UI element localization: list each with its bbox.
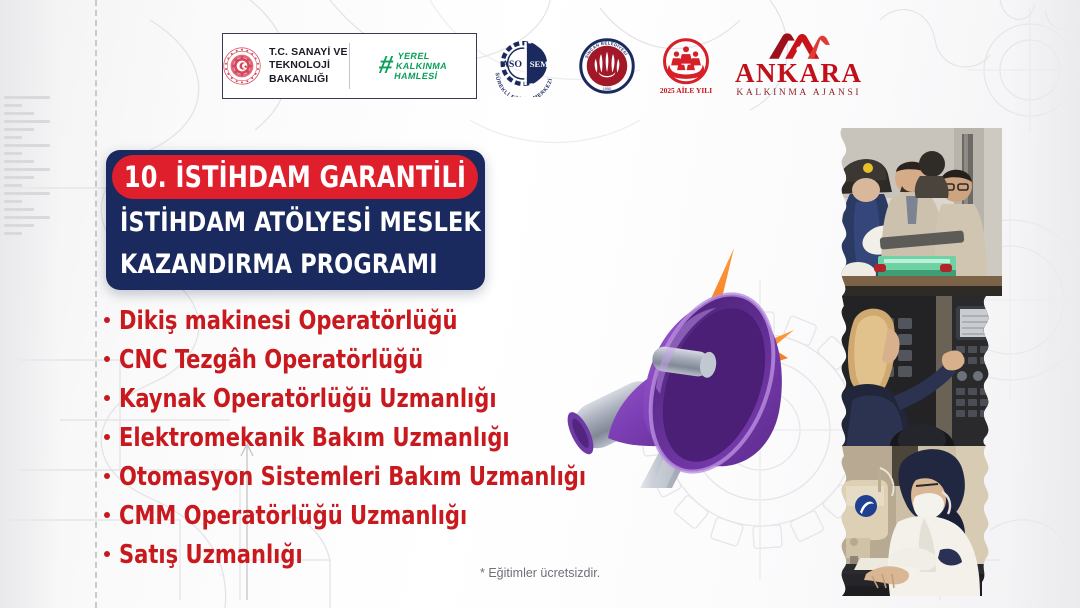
hashtag-icon: # [377, 53, 395, 78]
ruler-marks [4, 96, 50, 266]
partner-logo-aile-yili: 2025 AİLE YILI [637, 31, 721, 101]
campaign-line-2: KALKINMA [395, 61, 448, 71]
photo-sewing-operator-image [836, 446, 1008, 596]
vertical-dashed-guide [95, 0, 97, 608]
left-edge-shade [0, 0, 60, 608]
ministry-logo-text: T.C. SANAYİ VE TEKNOLOJİ BAKANLIĞI [269, 46, 349, 85]
svg-text:1950: 1950 [603, 86, 612, 91]
right-edge-shade [1010, 0, 1080, 608]
list-item: Otomasyon Sistemleri Bakım Uzmanlığı [104, 462, 574, 501]
ankara-title: ANKARA [735, 60, 863, 87]
poster-canvas: T.C. SANAYİ VE TEKNOLOJİ BAKANLIĞI # YER… [0, 0, 1080, 608]
list-item: CMM Operatörlüğü Uzmanlığı [104, 501, 574, 540]
program-label: Otomasyon Sistemleri Bakım Uzmanlığı [119, 462, 586, 492]
program-label: Satış Uzmanlığı [119, 540, 303, 570]
ministry-logo: T.C. SANAYİ VE TEKNOLOJİ BAKANLIĞI [223, 34, 349, 98]
campaign-logo-text: YEREL KALKINMA HAMLESİ [393, 51, 450, 81]
campaign-logo: # YEREL KALKINMA HAMLESİ [350, 34, 476, 98]
photo-welding-training-image [836, 128, 1008, 296]
photo-welding-training [836, 128, 1008, 296]
photo-sewing-operator [836, 446, 1008, 596]
list-item: Dikiş makinesi Operatörlüğü [104, 306, 574, 345]
bullet-icon [104, 434, 110, 440]
sincan-belediyesi-icon: SİNCAN BELEDİYESİ 1950 [577, 35, 637, 97]
aso-sem-icon: ASO SEM SÜREKLİ EĞİTİM MERKEZİ [491, 35, 565, 97]
ankara-mark-icon [767, 33, 831, 59]
photo-cnc-operator [836, 296, 1008, 446]
partner-logo-ankara-kalkinma-ajansi: ANKARA KALKINMA AJANSI [735, 33, 863, 99]
ministry-line-2: TEKNOLOJİ BAKANLIĞI [269, 59, 349, 85]
bullet-icon [104, 356, 110, 362]
ministry-seal-icon [223, 47, 261, 85]
program-list: Dikiş makinesi Operatörlüğü CNC Tezgâh O… [104, 306, 574, 579]
list-item: CNC Tezgâh Operatörlüğü [104, 345, 574, 384]
title-line-3: KAZANDIRMA PROGRAMI [120, 249, 438, 280]
bullet-icon [104, 473, 110, 479]
partner-logo-aso-sem: ASO SEM SÜREKLİ EĞİTİM MERKEZİ [477, 31, 565, 101]
title-highlight-pill: 10. İSTİHDAM GARANTİLİ [112, 155, 478, 199]
program-label: Dikiş makinesi Operatörlüğü [119, 306, 457, 336]
photo-collage [836, 128, 1016, 596]
bullet-icon [104, 395, 110, 401]
program-label: CNC Tezgâh Operatörlüğü [119, 345, 423, 375]
partner-logo-sincan-belediyesi: SİNCAN BELEDİYESİ 1950 [565, 31, 637, 101]
program-label: CMM Operatörlüğü Uzmanlığı [119, 501, 467, 531]
title-line-2: İSTİHDAM ATÖLYESİ MESLEK [120, 207, 481, 238]
aile-yili-caption: 2025 AİLE YILI [660, 85, 712, 95]
ministry-logo-box: T.C. SANAYİ VE TEKNOLOJİ BAKANLIĞI # YER… [222, 33, 477, 99]
program-label: Kaynak Operatörlüğü Uzmanlığı [119, 384, 497, 414]
bullet-icon [104, 317, 110, 323]
program-label: Elektromekanik Bakım Uzmanlığı [119, 423, 510, 453]
footnote: * Eğitimler ücretsizdir. [480, 566, 600, 580]
ministry-line-1: T.C. SANAYİ VE [269, 46, 349, 59]
bullet-icon [104, 512, 110, 518]
megaphone-illustration [556, 238, 806, 488]
ankara-subtitle: KALKINMA AJANSI [736, 89, 861, 99]
logo-bar: T.C. SANAYİ VE TEKNOLOJİ BAKANLIĞI # YER… [222, 33, 863, 99]
campaign-line-1: YEREL [397, 51, 450, 61]
aile-yili-icon: 2025 AİLE YILI [651, 35, 721, 97]
photo-cnc-operator-image [836, 296, 1008, 446]
campaign-line-3: HAMLESİ [393, 71, 446, 81]
title-line-1: 10. İSTİHDAM GARANTİLİ [124, 160, 466, 194]
svg-text:SEM: SEM [530, 59, 549, 69]
list-item: Kaynak Operatörlüğü Uzmanlığı [104, 384, 574, 423]
svg-text:ASO: ASO [502, 59, 523, 70]
bullet-icon [104, 551, 110, 557]
list-item: Elektromekanik Bakım Uzmanlığı [104, 423, 574, 462]
